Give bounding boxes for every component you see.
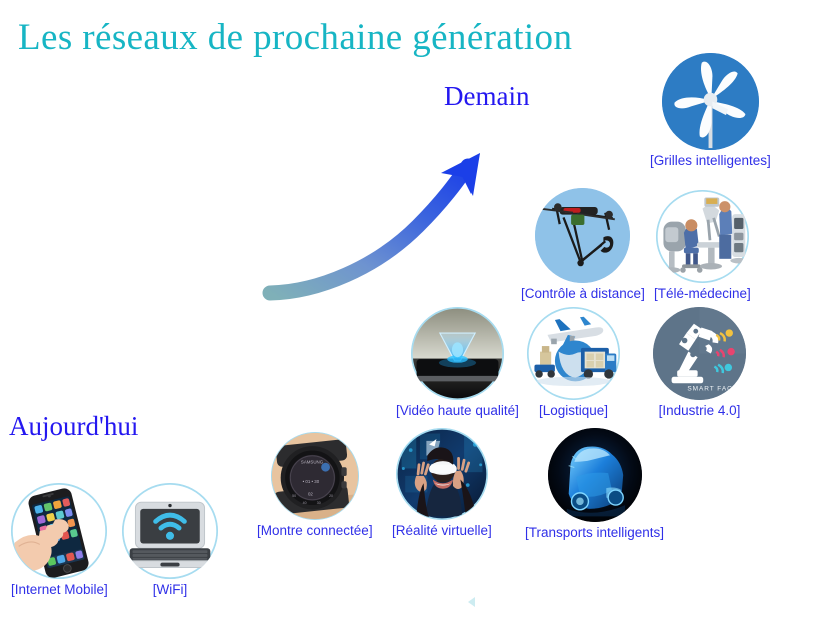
tech-node-label: [Internet Mobile] [11,582,108,598]
triangle-left-icon[interactable] [468,597,475,607]
robot-arm-icon[interactable]: SMART FACTORY [653,307,746,400]
tech-node-label: [Réalité virtuelle] [392,523,492,539]
tech-node-internet-mobile[interactable]: [Internet Mobile] [11,483,108,598]
tech-node-label: [Contrôle à distance] [521,286,645,302]
heading-future: Demain [444,81,529,112]
svg-text:40: 40 [302,501,306,505]
tech-node-transports-intelligents[interactable]: [Transports intelligents] [525,428,664,541]
tech-node-label: [Logistique] [539,403,608,419]
page-title: Les réseaux de prochaine génération [18,16,572,59]
smartwatch-icon[interactable]: SAMSUNG • 01 • 30 02 50403020 [271,432,359,520]
svg-text:SMART FACTORY: SMART FACTORY [687,386,746,393]
drone-icon[interactable] [535,188,630,283]
tech-node-label: [Montre connectée] [257,523,373,539]
tech-node-realite-virtuelle[interactable]: [Réalité virtuelle] [392,428,492,539]
svg-text:30: 30 [317,501,321,505]
growth-arrow [258,140,508,310]
slide-canvas: Les réseaux de prochaine génération Dema… [0,0,818,617]
tech-node-tele-medecine[interactable]: [Télé-médecine] [654,190,751,302]
tech-node-label: [Grilles intelligentes] [650,153,771,169]
svg-text:SAMSUNG: SAMSUNG [301,460,324,465]
tech-node-industrie-40[interactable]: SMART FACTORY [Industrie 4.0] [653,307,746,419]
tech-node-video-haute-qualite[interactable]: [Vidéo haute qualité] [396,307,519,419]
laptop-wifi-icon[interactable] [122,483,218,579]
tech-node-logistique[interactable]: [Logistique] [527,307,620,419]
tech-node-label: [Vidéo haute qualité] [396,403,519,419]
surgical-robot-icon[interactable] [656,190,749,283]
svg-text:02: 02 [308,491,313,496]
tech-node-label: [Télé-médecine] [654,286,751,302]
smartphone-hand-icon[interactable] [11,483,107,579]
vr-headset-icon[interactable] [396,428,488,520]
cargo-plane-truck-icon[interactable] [527,307,620,400]
tech-node-montre-connectee[interactable]: SAMSUNG • 01 • 30 02 50403020 [Montre co… [257,432,373,539]
tech-node-label: [WiFi] [153,582,188,598]
hologram-phone-icon[interactable] [411,307,504,400]
tech-node-grilles-intelligentes[interactable]: [Grilles intelligentes] [650,53,771,169]
svg-text:50: 50 [292,494,296,498]
tech-node-label: [Transports intelligents] [525,525,664,541]
heading-present: Aujourd'hui [9,411,138,442]
tech-node-controle-a-distance[interactable]: [Contrôle à distance] [521,188,645,302]
wind-turbine-icon[interactable] [662,53,759,150]
svg-text:20: 20 [329,494,333,498]
tech-node-wifi[interactable]: [WiFi] [122,483,218,598]
svg-text:• 01 • 30: • 01 • 30 [302,479,319,484]
tech-node-label: [Industrie 4.0] [659,403,741,419]
smart-car-icon[interactable] [548,428,642,522]
